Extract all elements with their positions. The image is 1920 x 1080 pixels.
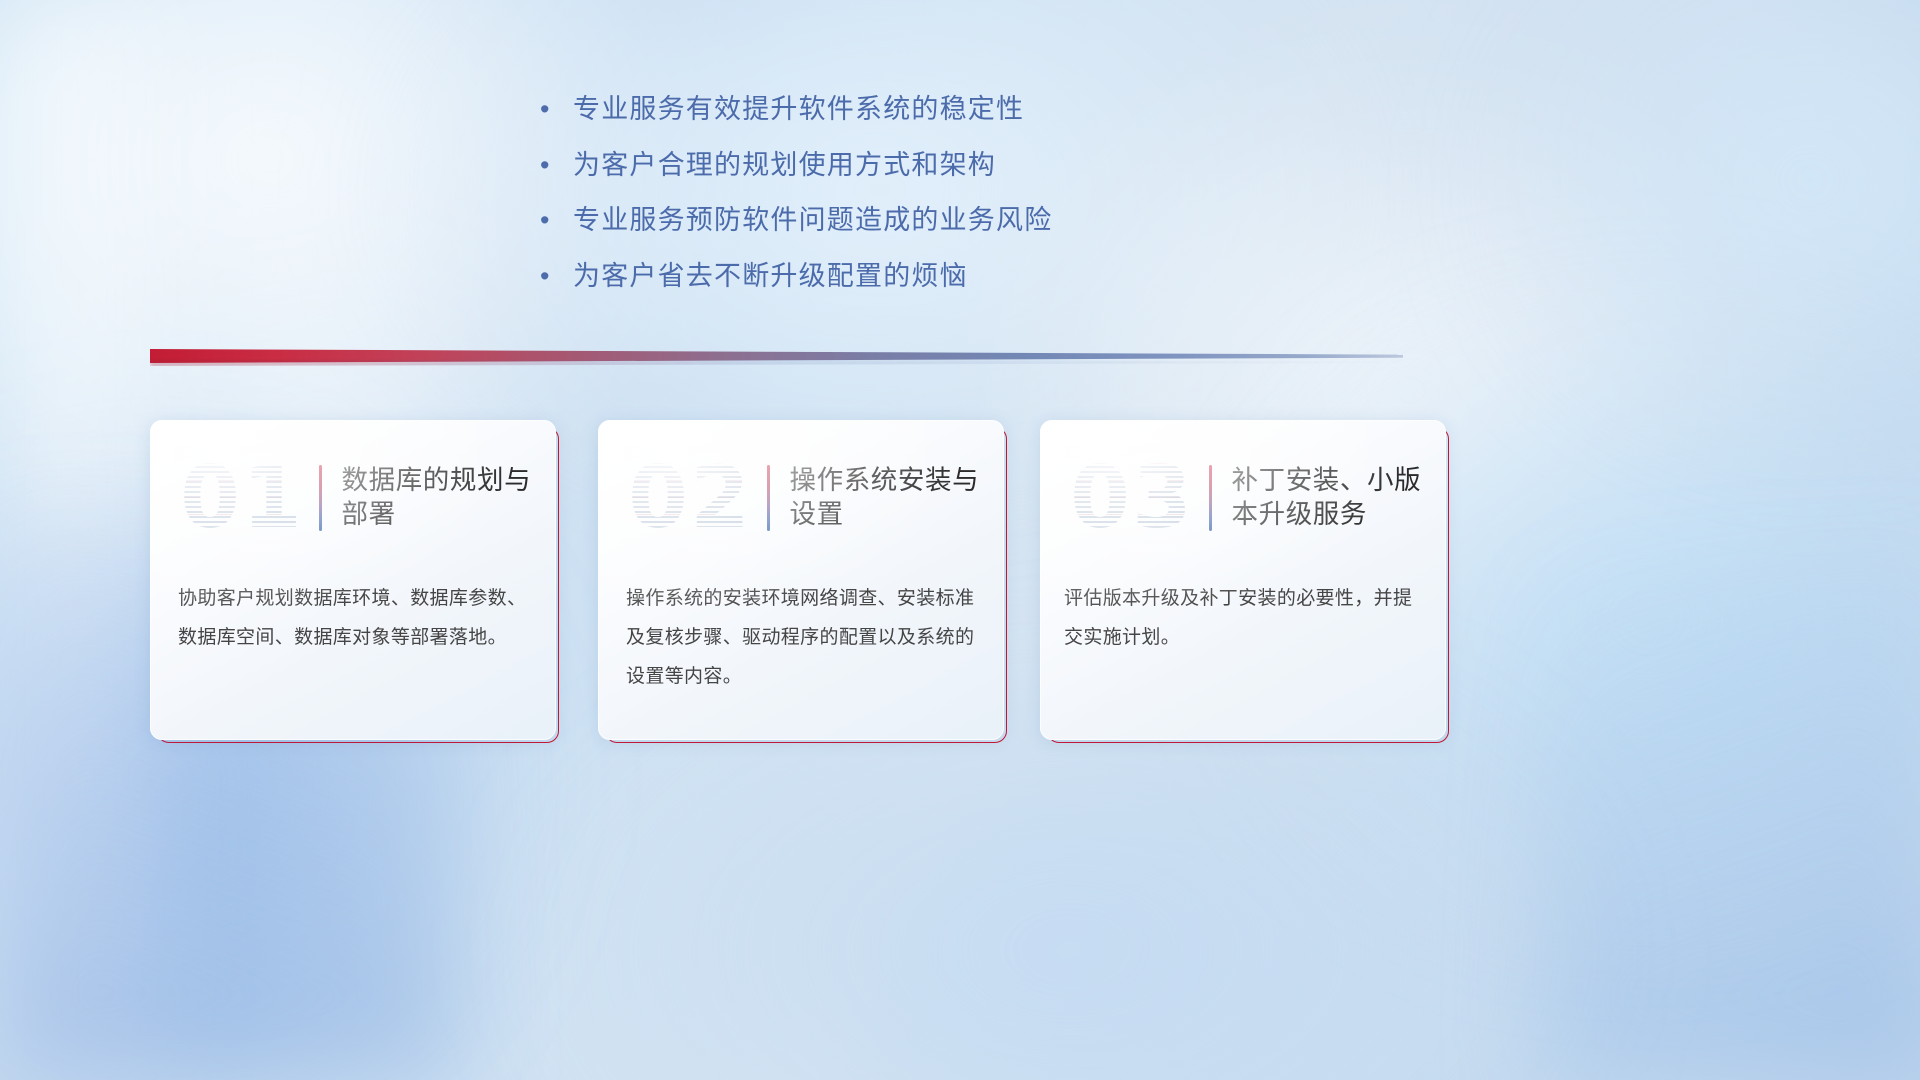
card-surface: 03 03 补丁安装、小版本升级服务 评估版本升级及补丁安装的必要性，并提交实施… [1040,420,1446,740]
card-title: 补丁安装、小版本升级服务 [1232,464,1447,532]
list-item: • 专业服务有效提升软件系统的稳定性 [533,92,1233,128]
list-item: • 为客户省去不断升级配置的烦恼 [533,259,1233,295]
service-card-01[interactable]: 01 01 数据库的规划与部署 协助客户规划数据库环境、数据库参数、数据库空间、… [150,420,556,740]
card-surface: 02 02 操作系统安装与设置 操作系统的安装环境网络调查、安装标准及复核步骤、… [598,420,1004,740]
card-title: 操作系统安装与设置 [790,464,1005,532]
list-item: • 为客户合理的规划使用方式和架构 [533,148,1233,184]
divider-shadow [150,359,1403,368]
bullet-dot-icon: • [533,207,573,234]
card-header: 03 03 补丁安装、小版本升级服务 [1040,438,1446,558]
bullet-text: 专业服务有效提升软件系统的稳定性 [573,92,1024,128]
service-card-02[interactable]: 02 02 操作系统安装与设置 操作系统的安装环境网络调查、安装标准及复核步骤、… [598,420,1004,740]
section-divider [150,345,1403,367]
card-number-watermark: 02 02 [623,446,757,550]
card-description: 协助客户规划数据库环境、数据库参数、数据库空间、数据库对象等部署落地。 [178,580,532,658]
card-number-watermark: 03 03 [1065,446,1199,550]
card-header: 02 02 操作系统安装与设置 [598,438,1004,558]
card-description: 评估版本升级及补丁安装的必要性，并提交实施计划。 [1064,580,1426,658]
card-surface: 01 01 数据库的规划与部署 协助客户规划数据库环境、数据库参数、数据库空间、… [150,420,556,740]
card-description: 操作系统的安装环境网络调查、安装标准及复核步骤、驱动程序的配置以及系统的设置等内… [626,580,980,697]
card-number-tint: 03 [1065,446,1199,550]
slide-content: • 专业服务有效提升软件系统的稳定性 • 为客户合理的规划使用方式和架构 • 专… [0,0,1920,1080]
card-header: 01 01 数据库的规划与部署 [150,438,556,558]
bullet-text: 为客户省去不断升级配置的烦恼 [573,259,968,295]
card-title-rule [319,465,322,531]
card-title-rule [767,465,770,531]
service-card-group: 01 01 数据库的规划与部署 协助客户规划数据库环境、数据库参数、数据库空间、… [150,420,1450,745]
card-number-tint: 02 [623,446,757,550]
benefits-bullet-list: • 专业服务有效提升软件系统的稳定性 • 为客户合理的规划使用方式和架构 • 专… [533,92,1233,315]
card-number-watermark: 01 01 [175,446,309,550]
bullet-text: 为客户合理的规划使用方式和架构 [573,148,996,184]
bullet-dot-icon: • [533,96,573,123]
bullet-dot-icon: • [533,152,573,179]
bullet-dot-icon: • [533,263,573,290]
list-item: • 专业服务预防软件问题造成的业务风险 [533,203,1233,239]
card-title: 数据库的规划与部署 [342,464,557,532]
service-card-03[interactable]: 03 03 补丁安装、小版本升级服务 评估版本升级及补丁安装的必要性，并提交实施… [1040,420,1446,740]
card-number-tint: 01 [175,446,309,550]
bullet-text: 专业服务预防软件问题造成的业务风险 [573,203,1052,239]
card-title-rule [1209,465,1212,531]
